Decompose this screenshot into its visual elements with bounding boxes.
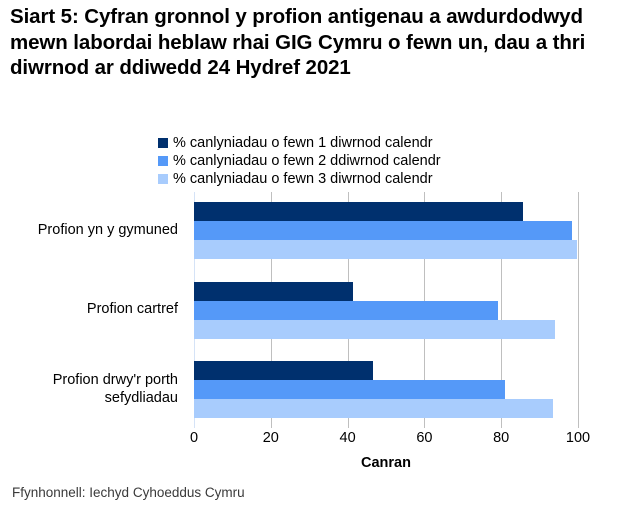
bar xyxy=(194,282,353,301)
legend-swatch-icon xyxy=(158,174,168,184)
bar xyxy=(194,202,523,221)
x-axis-tick-label: 20 xyxy=(263,430,279,447)
y-axis-label: Profion cartref xyxy=(0,301,178,319)
legend-item: % canlyniadau o fewn 3 diwrnod calendr xyxy=(158,170,488,187)
plot-area xyxy=(194,192,578,428)
legend-item-label: % canlyniadau o fewn 2 ddiwrnod calendr xyxy=(173,153,441,169)
legend-item-label: % canlyniadau o fewn 1 diwrnod calendr xyxy=(173,135,433,151)
bar xyxy=(194,221,572,240)
source-note: Ffynhonnell: Iechyd Cyhoeddus Cymru xyxy=(12,485,245,500)
x-axis-ticks: 020406080100 xyxy=(194,430,578,450)
legend-item: % canlyniadau o fewn 2 ddiwrnod calendr xyxy=(158,152,488,169)
y-axis-label: Profion drwy'r porth sefydliadau xyxy=(0,372,178,407)
y-axis-label: Profion yn y gymuned xyxy=(0,222,178,240)
bar-group xyxy=(194,282,578,339)
bar xyxy=(194,240,577,259)
y-axis-labels: Profion yn y gymunedProfion cartrefProfi… xyxy=(0,192,186,428)
legend-swatch-icon xyxy=(158,138,168,148)
bar xyxy=(194,320,555,339)
legend-item-label: % canlyniadau o fewn 3 diwrnod calendr xyxy=(173,171,433,187)
bar-group xyxy=(194,361,578,418)
bar xyxy=(194,380,505,399)
x-axis-tick-label: 40 xyxy=(340,430,356,447)
bars-layer xyxy=(194,192,578,428)
legend-item: % canlyniadau o fewn 1 diwrnod calendr xyxy=(158,134,488,151)
x-axis-tick-label: 60 xyxy=(416,430,432,447)
chart-legend: % canlyniadau o fewn 1 diwrnod calendr %… xyxy=(158,134,488,188)
page-title: Siart 5: Cyfran gronnol y profion antige… xyxy=(10,4,634,81)
bar-group xyxy=(194,202,578,259)
x-axis-tick-label: 0 xyxy=(190,430,198,447)
bar xyxy=(194,399,553,418)
legend-swatch-icon xyxy=(158,156,168,166)
x-axis-title: Canran xyxy=(194,455,578,471)
bar xyxy=(194,361,373,380)
bar xyxy=(194,301,498,320)
x-axis-tick-label: 80 xyxy=(493,430,509,447)
x-axis-tick-label: 100 xyxy=(566,430,590,447)
gridline xyxy=(578,192,579,428)
